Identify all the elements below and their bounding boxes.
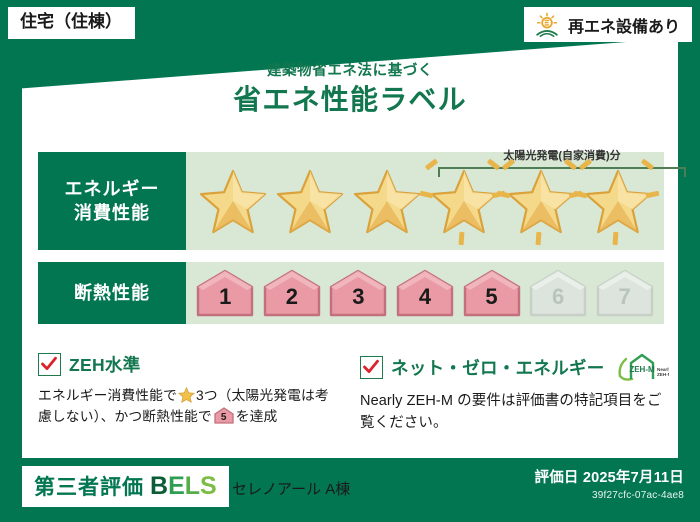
house-grade-scale: 1 2 3 4 5 6 7 <box>186 262 664 324</box>
star-item <box>583 158 653 244</box>
title-main: 省エネ性能ラベル <box>0 85 700 116</box>
energy-performance-label-cell: エネルギー 消費性能 <box>38 152 186 250</box>
evaluation-date-value: 2025年7月11日 <box>583 470 684 486</box>
insulation-label: 断熱性能 <box>74 281 150 305</box>
house-grade-1: 1 <box>195 269 255 317</box>
star-icon <box>507 168 575 234</box>
bels-logo-letter: L <box>185 472 200 500</box>
star-item <box>506 158 576 244</box>
house-grade-number: 7 <box>619 286 631 317</box>
inline-star-icon <box>178 387 195 403</box>
inline-house-number: 5 <box>214 407 234 424</box>
house-grade-5: 5 <box>462 269 522 317</box>
building-name: セレノアール A棟 <box>232 478 350 499</box>
insulation-houses-area: 1 2 3 4 5 6 7 <box>186 262 664 324</box>
bels-logo-letter: E <box>168 472 185 500</box>
house-grade-number: 3 <box>352 286 364 317</box>
house-grade-number: 4 <box>419 286 431 317</box>
energy-label-line2: 消費性能 <box>74 201 150 225</box>
zeh-desc-part1: エネルギー消費性能で <box>38 388 177 403</box>
star-item <box>429 158 499 244</box>
energy-performance-label: 住宅（住棟） 再エネ設備あり 建築物省エネ法に基づく 省エネ性能ラベル エネルギ… <box>0 0 700 522</box>
net-zero-energy-claim-header: ネット・ゼロ・エネルギー ZEH-M Nearly ZEH-M <box>360 352 664 382</box>
checkmark-icon <box>38 353 61 376</box>
renewable-energy-badge: 再エネ設備あり <box>524 7 692 42</box>
bels-logo-letter: S <box>200 472 217 500</box>
solar-ray-icon <box>458 232 464 245</box>
evaluation-date: 評価日 2025年7月11日 <box>535 466 685 487</box>
zeh-desc-part3: を達成 <box>236 409 278 424</box>
title-subtitle: 建築物省エネ法に基づく <box>0 64 700 80</box>
inline-house-badge: 5 <box>214 407 234 424</box>
building-type-tag: 住宅（住棟） <box>8 7 135 39</box>
third-party-evaluation-label: 第三者評価 <box>34 471 144 501</box>
zeh-standard-claim: ZEH水準 エネルギー消費性能で3つ（太陽光発電は考慮しない）、かつ断熱性能で5… <box>38 352 342 435</box>
checkmark-icon <box>360 356 383 379</box>
star-icon <box>276 168 344 234</box>
star-item <box>275 158 345 244</box>
house-grade-number: 2 <box>286 286 298 317</box>
insulation-performance-row: 断熱性能 1 2 3 4 5 6 7 <box>38 262 664 324</box>
bels-certification-bar: 第三者評価 BELS <box>22 466 229 507</box>
zeh-standard-description: エネルギー消費性能で3つ（太陽光発電は考慮しない）、かつ断熱性能で5を達成 <box>38 385 342 428</box>
house-grade-7: 7 <box>595 269 655 317</box>
star-icon <box>584 168 652 234</box>
svg-text:ZEH-M: ZEH-M <box>629 365 655 374</box>
house-grade-2: 2 <box>262 269 322 317</box>
zeh-m-logo-icon: ZEH-M Nearly ZEH-M <box>617 352 669 382</box>
star-item <box>198 158 268 244</box>
bels-logo: BELS <box>150 472 217 501</box>
house-grade-number: 6 <box>552 286 564 317</box>
star-icon <box>199 168 267 234</box>
energy-stars-area: 太陽光発電(自家消費)分 <box>186 152 664 250</box>
energy-label-line1: エネルギー <box>65 177 160 201</box>
zeh-standard-title: ZEH水準 <box>69 352 141 377</box>
insulation-performance-label-cell: 断熱性能 <box>38 262 186 324</box>
solar-ray-icon <box>612 232 618 245</box>
evaluation-date-block: 評価日 2025年7月11日 39f27cfc-07ac-4ae8 <box>535 466 685 501</box>
house-grade-number: 5 <box>485 286 497 317</box>
renewable-energy-badge-label: 再エネ設備あり <box>568 13 680 37</box>
net-zero-energy-title: ネット・ゼロ・エネルギー <box>391 355 605 380</box>
solar-sun-icon <box>533 12 561 37</box>
net-zero-energy-description: Nearly ZEH-M の要件は評価書の特記項目をご覧ください。 <box>360 390 664 435</box>
zeh-standard-claim-header: ZEH水準 <box>38 352 342 377</box>
solar-ray-icon <box>535 232 541 245</box>
energy-performance-row: エネルギー 消費性能 太陽光発電(自家消費)分 <box>38 152 664 250</box>
net-zero-energy-claim: ネット・ゼロ・エネルギー ZEH-M Nearly ZEH-M Nearly Z… <box>360 352 664 435</box>
evaluation-id: 39f27cfc-07ac-4ae8 <box>535 490 685 501</box>
svg-text:ZEH-M: ZEH-M <box>657 372 669 377</box>
house-grade-6: 6 <box>528 269 588 317</box>
star-item <box>352 158 422 244</box>
house-grade-number: 1 <box>219 286 231 317</box>
star-icon <box>353 168 421 234</box>
star-rating <box>186 152 664 250</box>
label-title-block: 建築物省エネ法に基づく 省エネ性能ラベル <box>0 64 700 116</box>
claims-section: ZEH水準 エネルギー消費性能で3つ（太陽光発電は考慮しない）、かつ断熱性能で5… <box>38 352 664 435</box>
house-grade-3: 3 <box>328 269 388 317</box>
star-icon <box>430 168 498 234</box>
bels-logo-letter: B <box>150 472 168 500</box>
evaluation-date-label: 評価日 <box>535 470 579 486</box>
house-grade-4: 4 <box>395 269 455 317</box>
